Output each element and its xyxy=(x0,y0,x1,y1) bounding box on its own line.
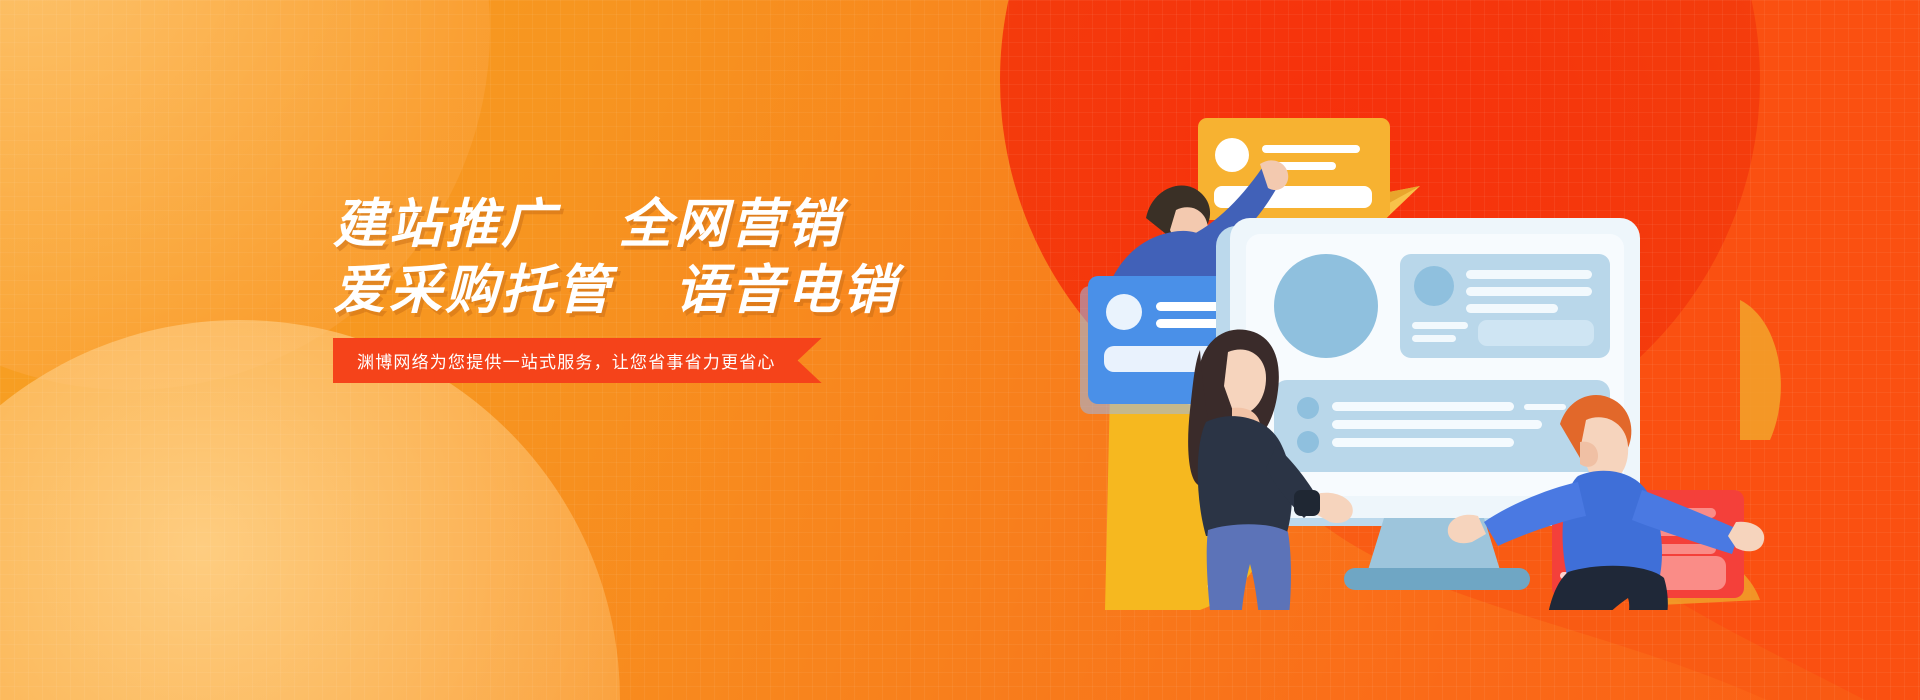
ribbon-text: 渊博网络为您提供一站式服务，让您省事省力更省心 xyxy=(357,348,776,373)
headline-block: 建站推广 全网营销 爱采购托管 语音电销 xyxy=(333,192,898,324)
promo-banner: 建站推广 全网营销 爱采购托管 语音电销 渊博网络为您提供一站式服务，让您省事省… xyxy=(0,0,1920,700)
screen-card-list xyxy=(1274,380,1610,472)
headline-line-2: 爱采购托管 语音电销 xyxy=(333,258,898,324)
headline-line-2-left: 爱采购托管 xyxy=(333,261,613,320)
team-website-illustration xyxy=(1080,90,1800,610)
headline-line-1: 建站推广 全网营销 xyxy=(333,192,898,258)
card-yellow xyxy=(1198,118,1390,220)
tagline-ribbon: 渊博网络为您提供一站式服务，让您省事省力更省心 xyxy=(333,338,822,383)
headline-line-1-left: 建站推广 xyxy=(333,195,557,254)
screen-card-profile xyxy=(1400,254,1610,358)
ribbon-shape: 渊博网络为您提供一站式服务，让您省事省力更省心 xyxy=(333,338,822,383)
headline-line-2-right: 语音电销 xyxy=(674,261,898,320)
headline-line-1-right: 全网营销 xyxy=(618,195,842,254)
